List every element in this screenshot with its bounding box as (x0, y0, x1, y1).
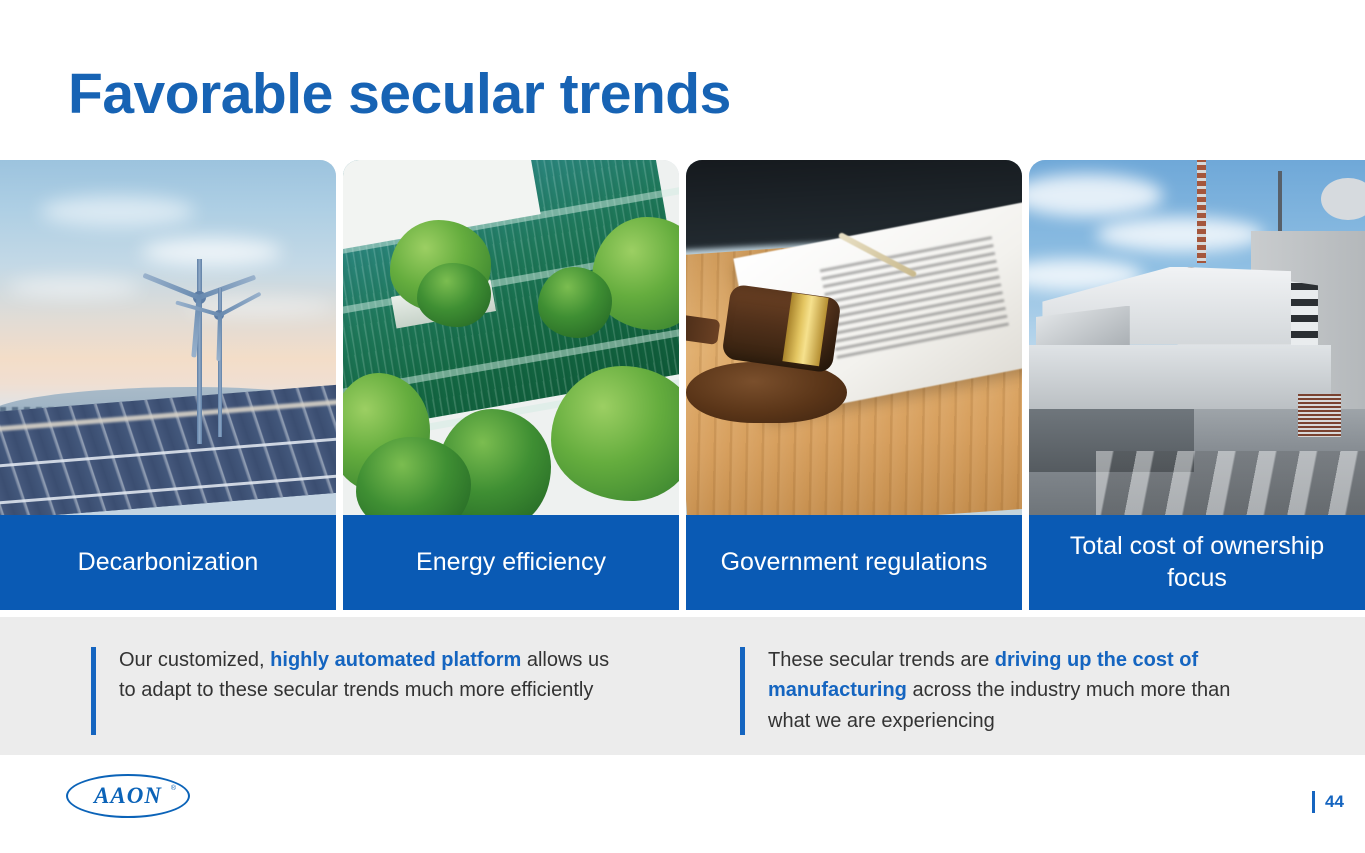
cards-strip: Decarbonization (0, 160, 1365, 610)
note-left-text: Our customized, highly automated platfor… (119, 645, 621, 706)
notes-band: Our customized, highly automated platfor… (0, 617, 1365, 755)
card-caption-energy-efficiency: Energy efficiency (343, 515, 679, 610)
card-decarbonization[interactable]: Decarbonization (0, 160, 336, 610)
registered-trademark-icon: ® (171, 785, 176, 792)
card-energy-efficiency[interactable]: Energy efficiency (343, 160, 679, 610)
note-right-text: These secular trends are driving up the … (768, 645, 1270, 736)
photo-rooftop-hvac-unit-icon (1029, 160, 1365, 515)
note-accent-bar-right (740, 647, 745, 735)
logo-wordmark: AAON (66, 774, 190, 818)
note-left-lead: Our customized, (119, 649, 270, 671)
photo-gavel-icon (686, 160, 1022, 515)
slide: Favorable secular trends (0, 0, 1365, 853)
note-left: Our customized, highly automated platfor… (91, 645, 621, 735)
note-left-emphasis: highly automated platform (270, 649, 521, 671)
note-right: These secular trends are driving up the … (740, 645, 1270, 736)
card-caption-total-cost-of-ownership: Total cost of ownership focus (1029, 515, 1365, 610)
page-number: 44 (1312, 791, 1347, 813)
page-title: Favorable secular trends (68, 66, 731, 123)
card-government-regulations[interactable]: Government regulations (686, 160, 1022, 610)
card-caption-decarbonization: Decarbonization (0, 515, 336, 610)
photo-green-building-icon (343, 160, 679, 515)
note-accent-bar-left (91, 647, 96, 735)
card-total-cost-of-ownership[interactable]: Total cost of ownership focus (1029, 160, 1365, 610)
page-number-bar-icon (1312, 791, 1315, 813)
card-caption-government-regulations: Government regulations (686, 515, 1022, 610)
aaon-logo: AAON ® (66, 774, 190, 818)
note-right-lead: These secular trends are (768, 649, 995, 671)
page-number-text: 44 (1325, 792, 1347, 812)
photo-wind-solar-icon (0, 160, 336, 515)
